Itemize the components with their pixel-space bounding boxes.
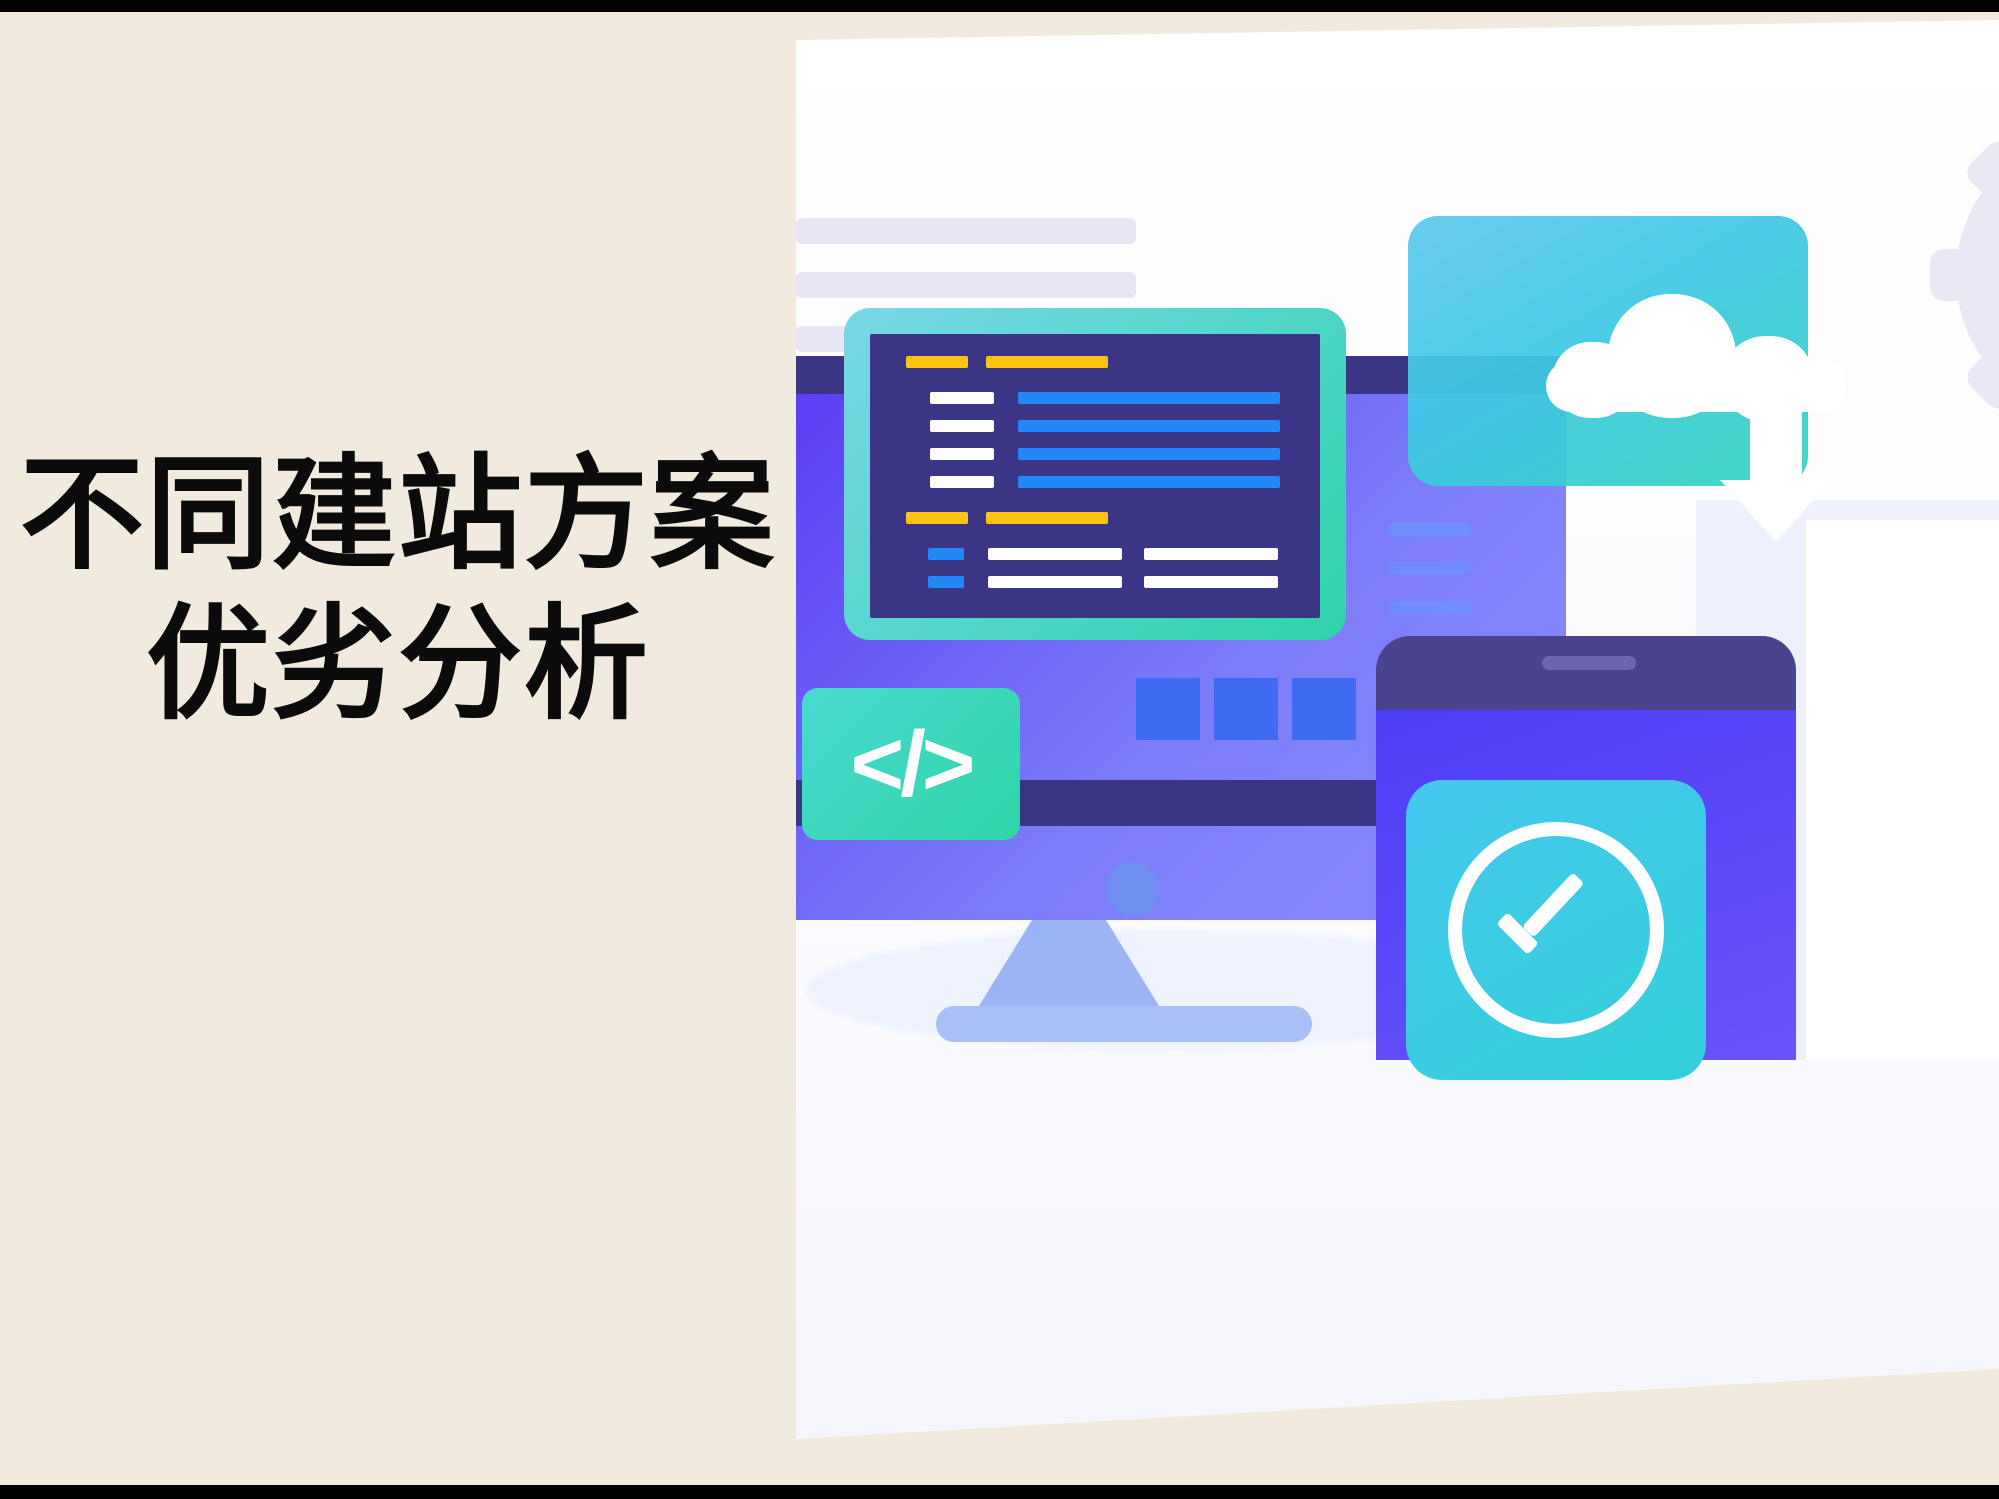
code-line-white (930, 476, 994, 488)
title-line-2: 优劣分析 (0, 590, 796, 740)
monitor-tile (1136, 678, 1200, 740)
code-line-white (930, 392, 994, 404)
code-line-white (988, 548, 1122, 560)
code-line-white (930, 448, 994, 460)
code-line-blue (928, 548, 964, 560)
document-lines (796, 272, 1136, 298)
checkmark-icon (1496, 880, 1606, 960)
code-line-blue (1018, 448, 1280, 460)
code-line-blue (1018, 476, 1280, 488)
code-editor-screen (870, 334, 1320, 618)
code-line-yellow (906, 356, 968, 368)
code-line-yellow (986, 512, 1108, 524)
title-line-1: 不同建站方案 (0, 440, 796, 590)
download-arrow-icon (1716, 380, 1836, 550)
side-text-line (1388, 601, 1472, 614)
code-badge: </> (802, 688, 1020, 840)
code-badge-label: </> (850, 718, 971, 810)
document-lines (796, 218, 1136, 244)
code-line-blue (1018, 420, 1280, 432)
top-letterbox-bar (0, 0, 1999, 12)
slide-root: </> (0, 0, 1999, 1499)
code-line-white (1144, 576, 1278, 588)
code-line-yellow (906, 512, 968, 524)
code-line-white (930, 420, 994, 432)
code-line-blue (1018, 392, 1280, 404)
code-line-white (988, 576, 1122, 588)
gear-icon (1956, 130, 1999, 420)
monitor-power-knob (1106, 862, 1160, 916)
code-line-yellow (986, 356, 1108, 368)
side-text-line (1388, 562, 1472, 575)
phone-speaker (1542, 656, 1636, 670)
title-panel: 不同建站方案 优劣分析 (0, 0, 796, 1499)
mobile-phone-top-bar (1376, 636, 1796, 710)
code-line-white (1144, 548, 1278, 560)
illustration-panel: </> (796, 0, 1999, 1499)
code-line-blue (928, 576, 964, 588)
monitor-stand (936, 1006, 1312, 1042)
document-panel (1806, 520, 1999, 1060)
page-title: 不同建站方案 优劣分析 (0, 440, 796, 740)
monitor-tile (1292, 678, 1356, 740)
bottom-letterbox-bar (0, 1485, 1999, 1499)
monitor-tile (1214, 678, 1278, 740)
code-editor-window (844, 308, 1346, 640)
side-text-line (1388, 523, 1472, 536)
